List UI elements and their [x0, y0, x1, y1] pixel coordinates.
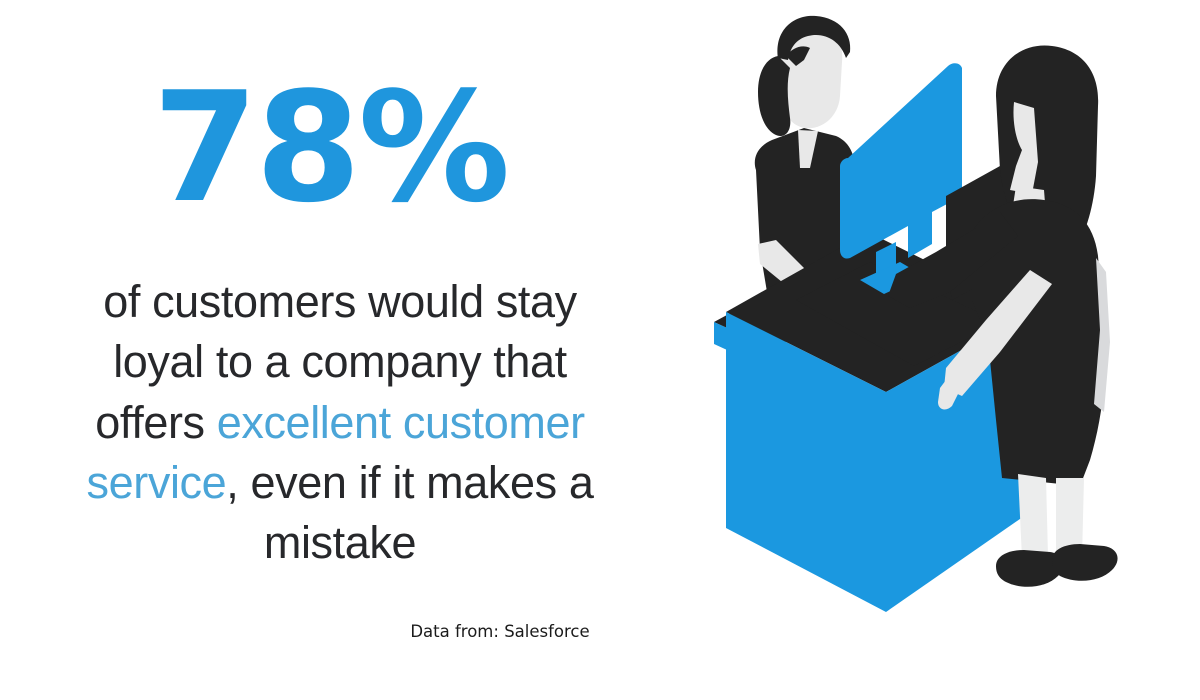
statement-segment-highlight: excellent customer [217, 397, 585, 448]
statement-segment: , even if it makes a [226, 457, 593, 508]
infographic-canvas: 78% of customers would stay loyal to a c… [0, 0, 1200, 700]
customer-shoe-right [1052, 544, 1118, 581]
statement-line: offers excellent customer [40, 393, 640, 453]
statement-line: of customers would stay [40, 272, 640, 332]
statement-line: loyal to a company that [40, 332, 640, 392]
employee-ponytail [758, 56, 790, 136]
statement-segment: offers [95, 397, 216, 448]
statement-segment-highlight: service [87, 457, 227, 508]
statement-segment: loyal to a company that [113, 336, 567, 387]
customer-leg-left [1018, 474, 1048, 558]
statement-text: of customers would stay loyal to a compa… [40, 272, 640, 573]
statement-line: service, even if it makes a [40, 453, 640, 513]
data-source-attribution: Data from: Salesforce [300, 622, 700, 641]
statement-line: mistake [40, 513, 640, 573]
statement-segment: of customers would stay [103, 276, 577, 327]
text-panel: 78% of customers would stay loyal to a c… [0, 0, 700, 700]
stat-percentage: 78% [0, 72, 660, 224]
service-counter-illustration [700, 0, 1200, 700]
monitor-screen [840, 63, 962, 258]
statement-segment: mistake [264, 517, 416, 568]
